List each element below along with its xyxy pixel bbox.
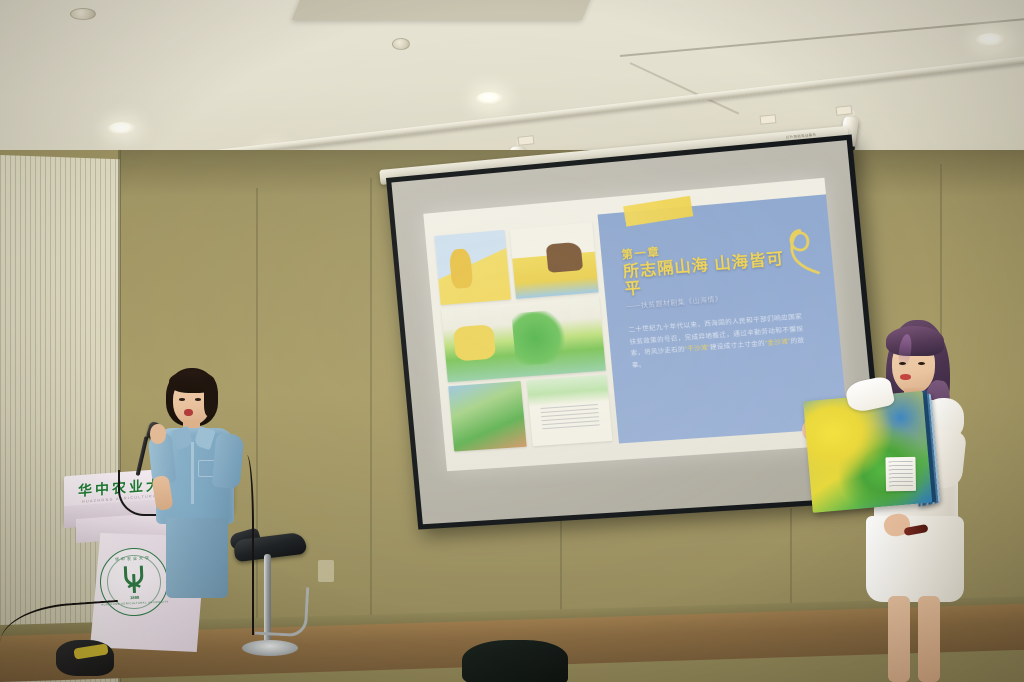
downlight xyxy=(476,92,504,105)
downlight xyxy=(108,122,136,135)
slide-body-highlight: “干沙滩” xyxy=(684,344,710,353)
hand-holding-microphone xyxy=(150,424,166,444)
stool-base xyxy=(242,640,298,656)
slide-body-line: 沙走石的 xyxy=(657,346,685,355)
eye xyxy=(899,362,906,365)
lecture-hall-photo: 红叶智能电动幕布 xyxy=(0,0,1024,682)
mouth xyxy=(900,374,911,380)
track-clip xyxy=(518,135,535,146)
illustration-cart-migration xyxy=(510,222,599,299)
tape-decoration xyxy=(623,195,694,226)
stool-footrest xyxy=(255,585,310,638)
picture-book xyxy=(803,389,953,521)
eye xyxy=(179,398,185,401)
illustration-row xyxy=(435,222,599,305)
downlight xyxy=(976,33,1006,47)
track-clip xyxy=(836,105,853,116)
seal-founding-year: 1898 xyxy=(130,595,140,600)
slide-body-text: 二十世纪九十年代以来，西海固的人民和干部们响应国家扶贫政策的号召，完成异地搬迁，… xyxy=(628,311,806,371)
slide-body-highlight: “金沙滩” xyxy=(765,338,791,347)
leg xyxy=(918,596,940,682)
book-note-card xyxy=(885,457,916,492)
seal-emblem-icon xyxy=(119,563,148,596)
smoke-detector-icon xyxy=(392,38,410,50)
ceiling-vent-icon xyxy=(70,8,96,20)
ceiling-bulkhead xyxy=(292,0,598,20)
slide-illustration-grid xyxy=(435,222,613,452)
illustration-desert-work xyxy=(435,230,512,305)
lower-garment xyxy=(166,518,228,598)
leg xyxy=(888,596,910,682)
slide-body-line: 建设成寸土寸金的 xyxy=(710,340,765,351)
eye xyxy=(918,362,925,365)
hair-bangs xyxy=(886,326,944,356)
dark-object-foreground xyxy=(462,640,568,682)
illustration-village-life xyxy=(449,381,527,451)
eye xyxy=(195,398,201,401)
wall-outlet xyxy=(318,560,334,582)
illustration-oasis-build xyxy=(442,297,606,383)
mouth xyxy=(184,409,193,416)
track-clip xyxy=(760,114,777,125)
slide-title-block: 第一章 所志隔山海 山海皆可平 ——扶贫题材剧集《山海情》 xyxy=(621,234,805,311)
wall-panel-seam xyxy=(370,178,372,638)
shirt-placket xyxy=(191,442,194,504)
illustration-row xyxy=(449,375,613,452)
hanging-cable xyxy=(236,455,254,635)
projected-slide: 第一章 所志隔山海 山海皆可平 ——扶贫题材剧集《山海情》 二十世纪九十年代以来… xyxy=(423,178,850,471)
note-text-lines xyxy=(889,461,913,488)
illustration-handwritten-note xyxy=(527,375,613,446)
